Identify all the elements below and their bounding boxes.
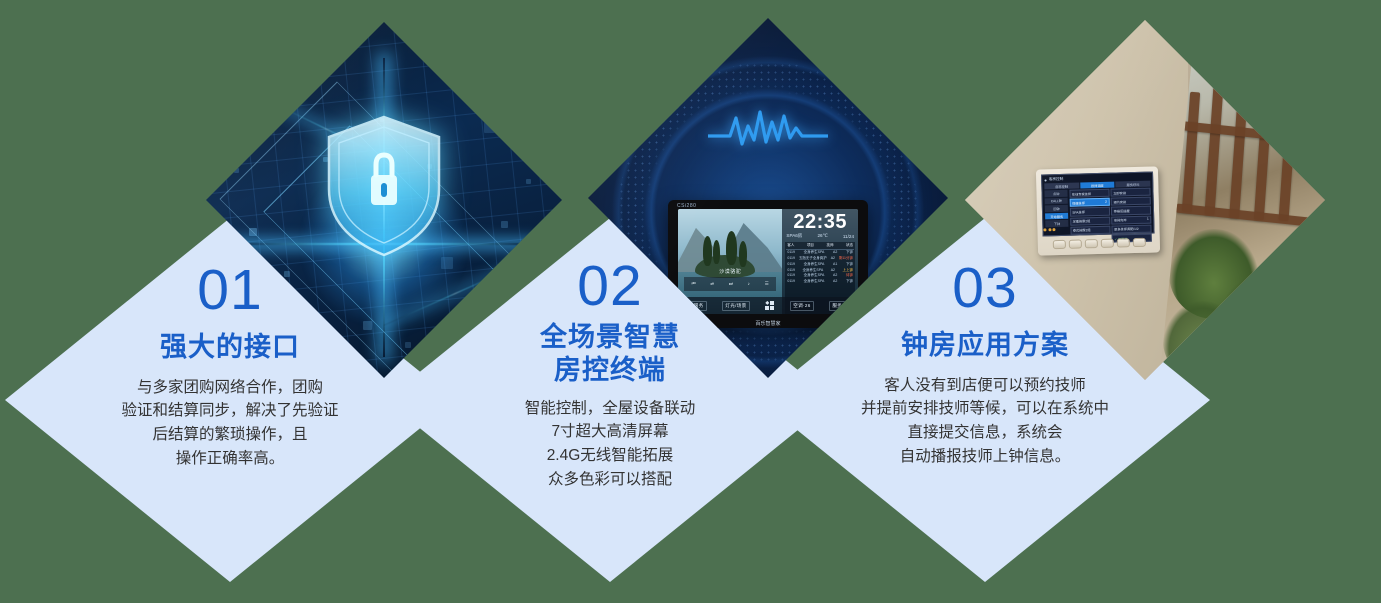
card-1-description: 与多家团购网络合作，团购 验证和结算同步，解决了先验证 后结算的繁琐操作，且 操… xyxy=(80,376,380,470)
panel-hw-button-3[interactable] xyxy=(1084,239,1097,248)
cell-item: 五指无子全身爽护 xyxy=(799,256,827,261)
list-right-label-4: 更多技师调配/1/2 xyxy=(1114,226,1139,232)
list-right-label-3: 安排完毕 xyxy=(1114,217,1127,222)
cell-item: 全身养生SPA xyxy=(804,262,825,267)
list-left-label-2: SPA技师 xyxy=(1072,209,1085,214)
list-left-item-2[interactable]: SPA技师 xyxy=(1070,207,1110,216)
cell-tech: A2 xyxy=(831,256,835,261)
cell-status: 下钟 xyxy=(846,262,853,267)
cell-tech: A2 xyxy=(833,250,837,255)
date-value: 11/24 xyxy=(843,234,854,239)
clock-time: 22:35 xyxy=(785,212,855,232)
cell-guest: 0119 xyxy=(787,256,795,261)
list-right-label-1: 预约安排 xyxy=(1113,199,1126,204)
panel-hw-button-1[interactable] xyxy=(1052,239,1065,248)
panel-body: 点钟 CALL钟 回钟 开始服务 下钟 在线专家技师 保健技师2 SPA技师 足… xyxy=(1044,187,1151,244)
cell-status: 剩11分钟 xyxy=(839,256,853,261)
list-right-item-1[interactable]: 预约安排 xyxy=(1111,196,1151,205)
card-1-title: 强大的接口 xyxy=(160,331,300,364)
side-button-0[interactable]: 点钟 xyxy=(1044,189,1067,196)
card-3-number: 03 xyxy=(952,260,1017,317)
panel-title-text: 客房控制 xyxy=(1049,176,1064,181)
cell-item: 全身养生SPA xyxy=(804,250,825,255)
cell-guest: 0119 xyxy=(787,273,795,278)
cell-tech: A1 xyxy=(833,262,837,267)
list-right-label-0: 立即安排 xyxy=(1113,189,1126,194)
panel-hw-button-4[interactable] xyxy=(1100,238,1113,247)
panel-hw-button-5[interactable] xyxy=(1116,238,1129,247)
list-left-label-4: 泰式按摩2组 xyxy=(1073,227,1091,232)
card-3-title: 钟房应用方案 xyxy=(901,329,1069,362)
list-left-item-4[interactable]: 泰式按摩2组 xyxy=(1070,225,1110,234)
cell-status: 下钟 xyxy=(846,279,853,284)
panel-list-right[interactable]: 立即安排 预约安排 等候区提醒 安排完毕1 更多技师调配/1/2 ✓ 已发送 xyxy=(1111,187,1152,242)
list-left-item-1[interactable]: 保健技师2 xyxy=(1069,197,1109,206)
side-button-1[interactable]: CALL钟 xyxy=(1045,197,1068,204)
shield-lock-icon xyxy=(319,111,449,261)
media-music-icon[interactable]: ♪ xyxy=(748,281,750,286)
cell-item: 全身养生SPA xyxy=(804,273,825,278)
th-status: 状态 xyxy=(846,243,853,248)
feature-diamond-banner: 01 强大的接口 与多家团购网络合作，团购 验证和结算同步，解决了先验证 后结算… xyxy=(0,0,1381,603)
cell-item: 全身养生SPA xyxy=(804,279,825,284)
side-button-3[interactable]: 开始服务 xyxy=(1045,212,1068,219)
panel-indicator-lights xyxy=(1043,228,1055,231)
panel-logo-icon: ◈ xyxy=(1044,177,1047,181)
media-prev-icon[interactable]: ⏮ xyxy=(692,281,696,286)
media-title: 沙漠骆驼 xyxy=(678,268,782,275)
table-header-row: 客人 项目 技师 状态 xyxy=(786,243,854,250)
room-label: SPA6房 xyxy=(786,233,802,239)
panel-tab-1[interactable]: 技师调度 xyxy=(1080,181,1115,188)
cell-status: 待钟 xyxy=(846,273,853,278)
temperature-value: 26℃ xyxy=(817,233,827,239)
card-1-number: 01 xyxy=(197,262,262,319)
cell-status: 上上钟 xyxy=(842,268,853,273)
list-right-item-2[interactable]: 等候区提醒 xyxy=(1111,206,1151,215)
grid-apps-icon[interactable] xyxy=(765,301,774,310)
cell-guest: 0119 xyxy=(787,268,795,273)
clock-meta: SPA6房 26℃ 11/24 xyxy=(785,233,855,239)
card-3-description: 客人没有到店便可以预约技师 并提前安排技师等候，可以在系统中 直接提交信息，系统… xyxy=(820,374,1150,468)
cell-guest: 0119 xyxy=(787,250,795,255)
panel-hw-button-2[interactable] xyxy=(1068,239,1081,248)
panel-screen[interactable]: ◈ 客房控制 房态控制 技师调度 服务呼叫 点钟 CALL钟 回钟 开始服务 下… xyxy=(1041,171,1155,236)
list-right-label-2: 等候区提醒 xyxy=(1114,208,1130,213)
bottom-button-service[interactable]: 服务模式 xyxy=(829,301,855,311)
list-right-item-4[interactable]: 更多技师调配/1/2 xyxy=(1112,224,1152,233)
panel-hw-button-6[interactable] xyxy=(1132,237,1145,246)
list-left-label-1: 保健技师 xyxy=(1072,200,1085,205)
tablet-screen[interactable]: 沙漠骆驼 ⏮ ⏯ ⏭ ♪ ☰ 22:35 SPA6房 26℃ 11/24 xyxy=(678,209,858,314)
wall-control-panel[interactable]: ◈ 客房控制 房态控制 技师调度 服务呼叫 点钟 CALL钟 回钟 开始服务 下… xyxy=(1036,166,1160,255)
list-right-value: 1 xyxy=(1147,216,1149,221)
list-left-item-0[interactable]: 在线专家技师 xyxy=(1069,188,1109,197)
th-tech: 技师 xyxy=(826,243,833,248)
media-list-icon[interactable]: ☰ xyxy=(765,281,769,287)
cell-tech: A2 xyxy=(831,268,835,273)
media-play-icon[interactable]: ⏯ xyxy=(710,281,714,286)
card-2-description: 智能控制，全屋设备联动 7寸超大高清屏幕 2.4G无线智能拓展 众多色彩可以搭配 xyxy=(455,397,765,491)
tablet-bottom-bar[interactable]: 呼叫服务 灯光/场景 空调·26 服务模式 xyxy=(678,297,858,314)
list-left-label-0: 在线专家技师 xyxy=(1072,190,1091,195)
cell-tech: A2 xyxy=(833,279,837,284)
waveform-icon xyxy=(708,106,828,152)
card-2-number: 02 xyxy=(577,258,642,315)
panel-side-buttons[interactable]: 点钟 CALL钟 回钟 开始服务 下钟 xyxy=(1044,189,1069,244)
table-row: 0119 全身养生SPA A2 下钟 xyxy=(786,279,854,285)
tablet-brand-bottom: 百乐智慧家 xyxy=(755,320,780,327)
panel-tab-2[interactable]: 服务呼叫 xyxy=(1116,180,1151,187)
list-left-count: 2 xyxy=(1105,199,1107,204)
media-controls[interactable]: ⏮ ⏯ ⏭ ♪ ☰ xyxy=(684,277,776,291)
cell-status: 下钟 xyxy=(846,250,853,255)
list-left-item-3[interactable]: 足重按摩2组 xyxy=(1070,216,1110,225)
media-next-icon[interactable]: ⏭ xyxy=(729,281,733,286)
cell-guest: 0119 xyxy=(787,262,795,267)
bottom-button-light[interactable]: 灯光/场景 xyxy=(722,301,749,311)
card-2-title: 全场景智慧 房控终端 xyxy=(540,321,680,387)
panel-list-left[interactable]: 在线专家技师 保健技师2 SPA技师 足重按摩2组 泰式按摩2组 xyxy=(1069,188,1110,243)
list-right-item-0[interactable]: 立即安排 xyxy=(1111,187,1151,196)
side-button-2[interactable]: 回钟 xyxy=(1045,205,1068,212)
list-left-label-3: 足重按摩2组 xyxy=(1073,218,1091,223)
panel-tab-0[interactable]: 房态控制 xyxy=(1044,182,1079,189)
cell-item: 全身养生SPA xyxy=(802,268,823,273)
th-guest: 客人 xyxy=(787,243,794,248)
bottom-button-ac[interactable]: 空调·26 xyxy=(790,301,813,311)
cell-guest: 0119 xyxy=(787,279,795,284)
side-button-4[interactable]: 下钟 xyxy=(1045,220,1068,227)
list-right-item-3[interactable]: 安排完毕1 xyxy=(1111,215,1151,224)
cell-tech: A2 xyxy=(833,273,837,278)
th-item: 项目 xyxy=(807,243,814,248)
